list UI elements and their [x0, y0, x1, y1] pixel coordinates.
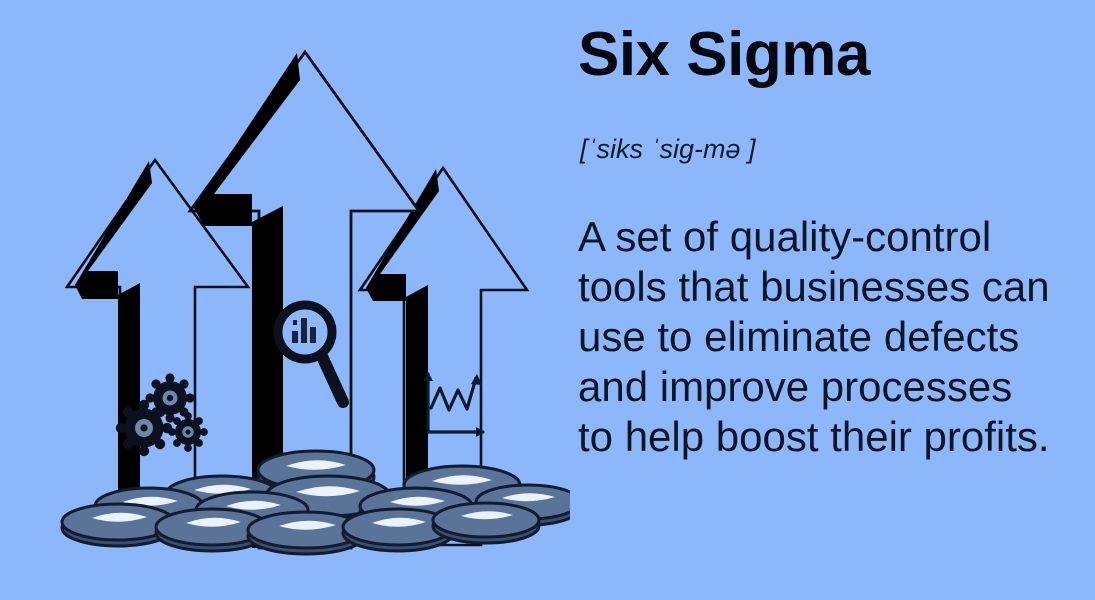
page-title: Six Sigma: [578, 22, 870, 87]
coin: [433, 503, 539, 543]
definition-text-column: Six Sigma [ˈsiks ˈsig-mə ] A set of qual…: [578, 0, 1078, 600]
definition-text: A set of quality-control tools that busi…: [578, 212, 1056, 462]
pronunciation-text: [ˈsiks ˈsig-mə ]: [580, 134, 756, 165]
growth-arrows-coins-illustration: [0, 0, 570, 600]
definition-card: Six Sigma [ˈsiks ˈsig-mə ] A set of qual…: [0, 0, 1095, 600]
